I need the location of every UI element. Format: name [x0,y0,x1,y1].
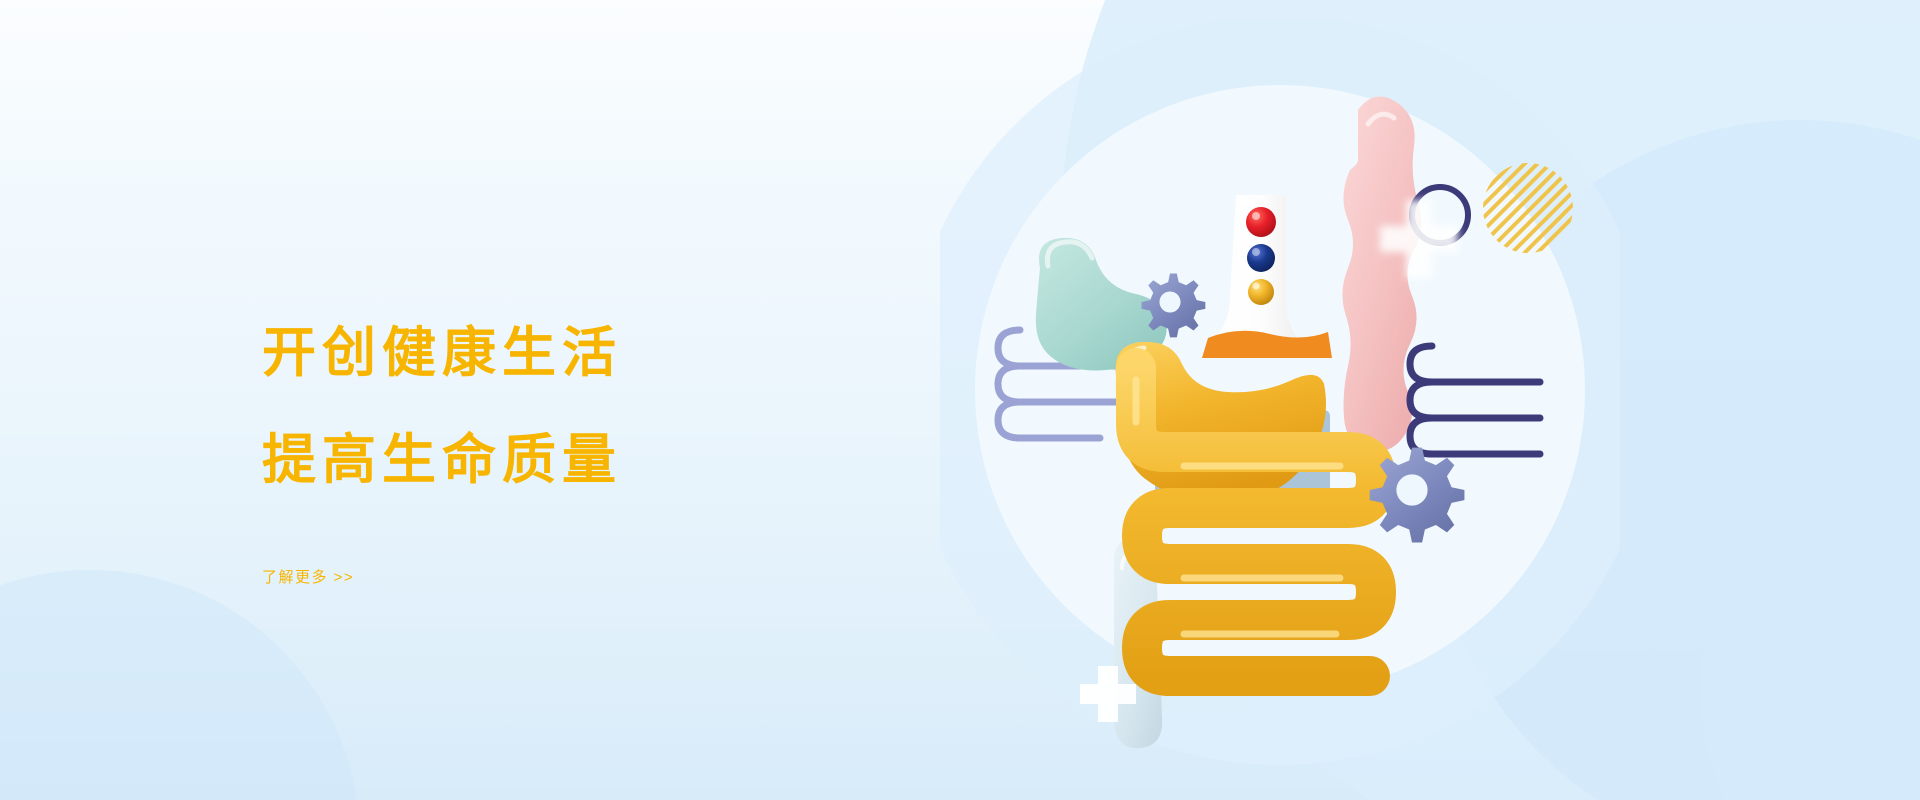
digestive-system-illustration [940,20,1620,780]
headline-line-1: 开创健康生活 [262,300,882,407]
gear-small [1141,273,1205,337]
sphere-gold [1248,279,1274,305]
gear-large [1370,448,1465,543]
sphere-navy [1247,244,1275,272]
sphere-red [1246,207,1276,237]
background-circle-right-small [1700,430,1920,800]
learn-more-link[interactable]: 了解更多 >> [262,566,354,587]
headline-line-2: 提高生命质量 [262,407,882,514]
hero-banner: 开创健康生活 提高生命质量 了解更多 >> [0,0,1920,800]
background-circle-bottom-left [0,570,360,800]
hero-copy: 开创健康生活 提高生命质量 了解更多 >> [262,300,882,587]
